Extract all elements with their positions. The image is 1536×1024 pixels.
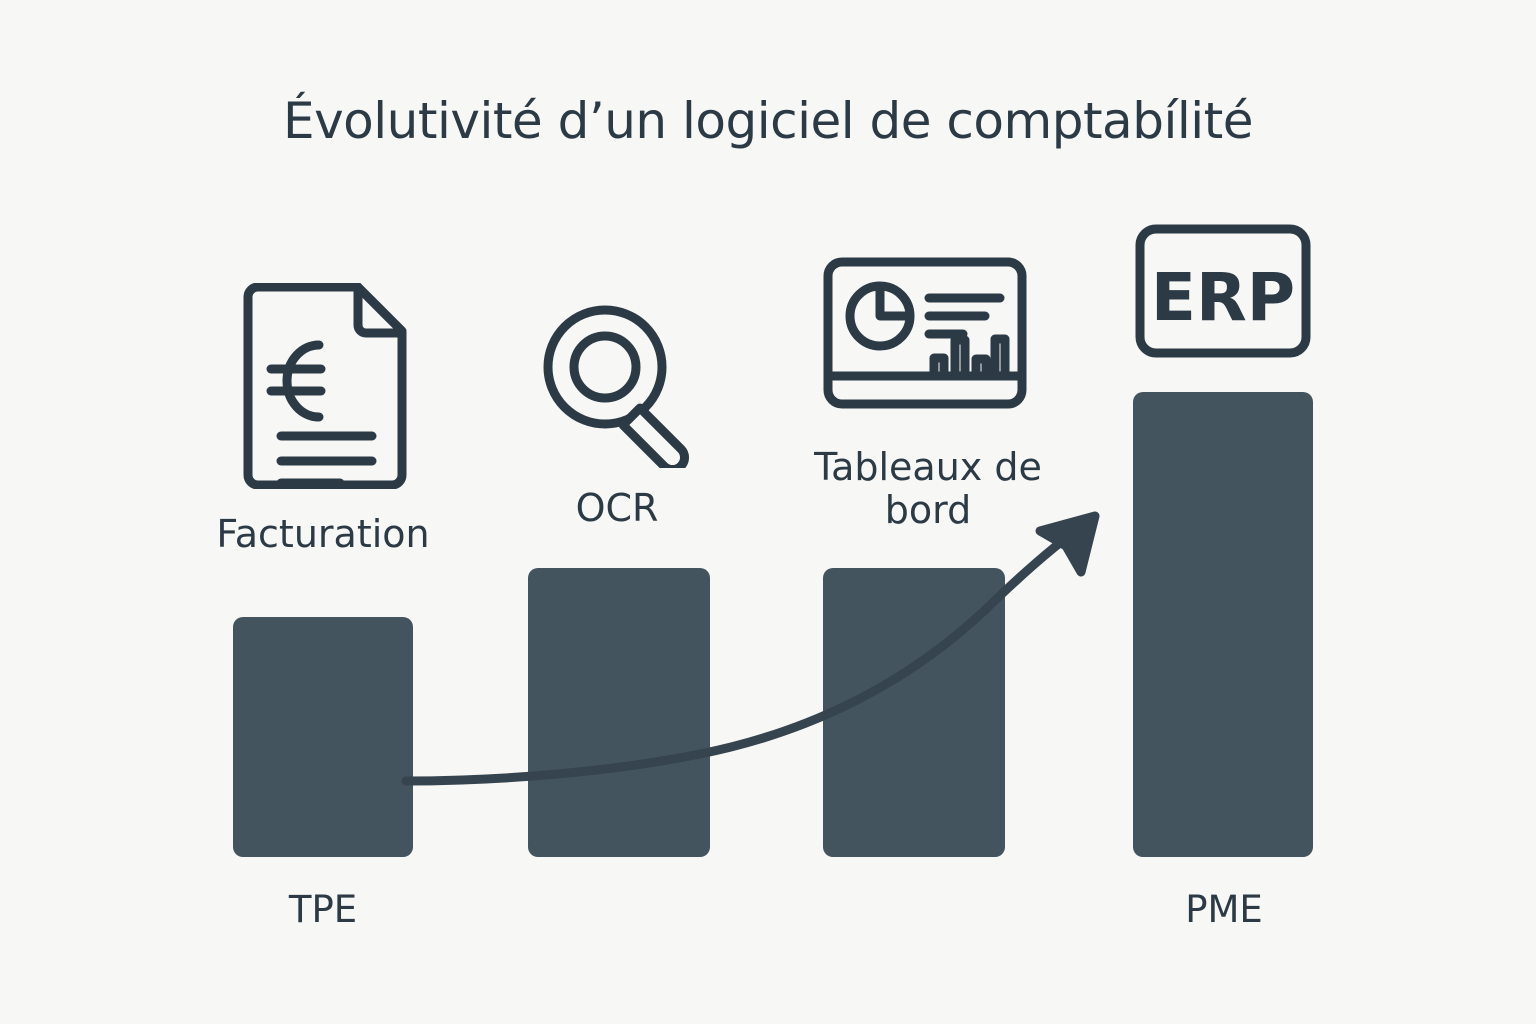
- icon-caption-line: Tableaux de: [748, 446, 1108, 489]
- erp-badge-label: ERP: [1151, 259, 1295, 336]
- icon-caption-ocr: OCR: [437, 487, 797, 530]
- axis-label-pme: PME: [1024, 888, 1424, 931]
- bar-two: [528, 568, 710, 857]
- magnifier-icon: [536, 303, 702, 468]
- icon-caption-tableaux-de-bord: Tableaux de bord: [748, 446, 1108, 531]
- bar-tpe: [233, 617, 413, 857]
- erp-badge-icon: ERP: [1135, 224, 1311, 358]
- axis-label-tpe: TPE: [123, 888, 523, 931]
- icon-caption-line: OCR: [437, 487, 797, 530]
- infographic-canvas: Évolutivité d’un logiciel de comptabílit…: [0, 0, 1536, 1024]
- bar-three: [823, 568, 1005, 857]
- invoice-euro-icon: [238, 283, 412, 489]
- dashboard-icon: [823, 257, 1027, 409]
- icon-caption-line: bord: [748, 489, 1108, 532]
- page-title: Évolutivité d’un logiciel de comptabílit…: [0, 92, 1536, 150]
- bar-pme: [1133, 392, 1313, 857]
